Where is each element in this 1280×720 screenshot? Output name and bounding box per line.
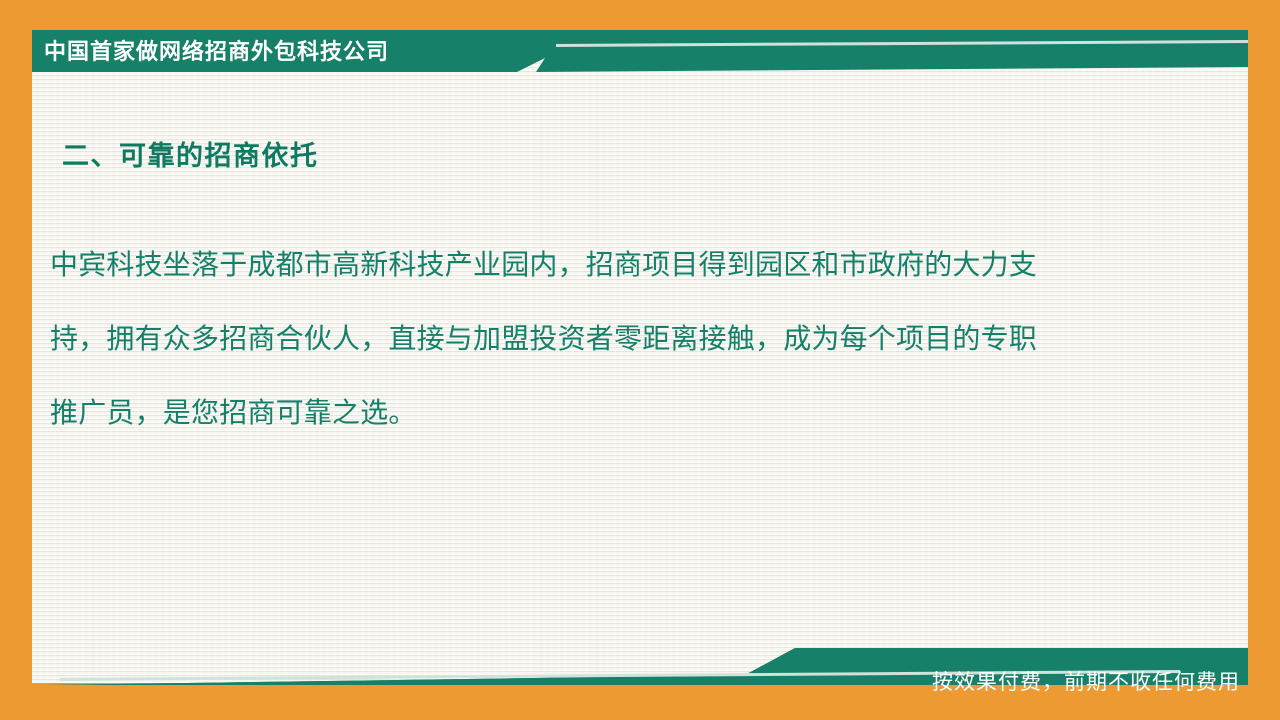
paragraph-line-3: 推广员，是您招商可靠之选。 <box>50 376 1190 450</box>
section-heading: 二、可靠的招商依托 <box>62 134 319 173</box>
paragraph-line-2: 持，拥有众多招商合伙人，直接与加盟投资者零距离接触，成为每个项目的专职 <box>50 302 1190 376</box>
body-paragraph: 中宾科技坐落于成都市高新科技产业园内，招商项目得到园区和市政府的大力支 持，拥有… <box>50 228 1190 450</box>
presentation-slide: 中国首家做网络招商外包科技公司 二、可靠的招商依托 中宾科技坐落于成都市高新科技… <box>0 0 1280 720</box>
paragraph-line-1: 中宾科技坐落于成都市高新科技产业园内，招商项目得到园区和市政府的大力支 <box>50 228 1190 302</box>
